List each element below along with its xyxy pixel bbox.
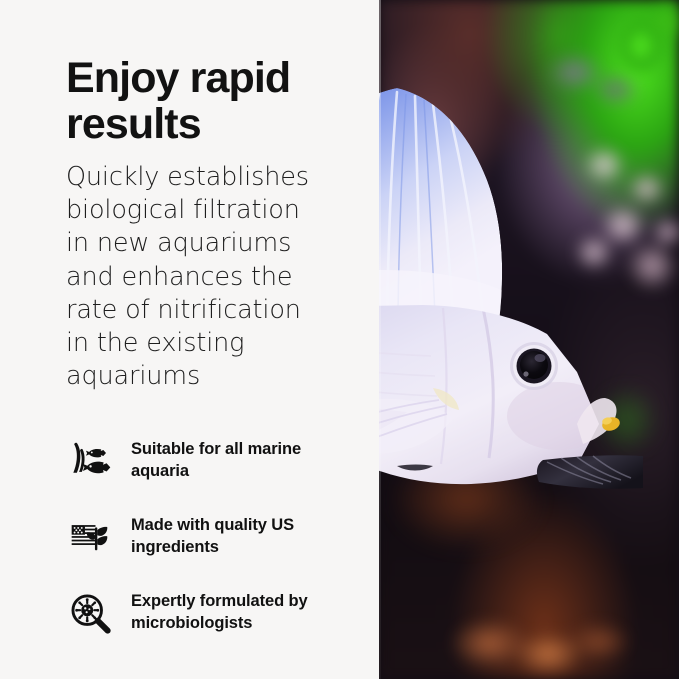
photo-stage	[379, 0, 679, 679]
list-item: Expertly formulated by microbiologists	[66, 589, 349, 637]
feature-label: Expertly formulated by microbiologists	[131, 591, 341, 635]
tang-fish	[379, 72, 643, 502]
product-feature-banner: Enjoy rapid results Quickly establishes …	[0, 0, 679, 679]
product-description: Quickly establishes biological filtratio…	[66, 161, 318, 393]
coral-rubble	[439, 596, 649, 679]
list-item: Made with quality US ingredients	[66, 513, 349, 561]
fish-seaweed-icon	[66, 437, 114, 485]
page-title: Enjoy rapid results	[66, 56, 336, 147]
list-item: Suitable for all marine aquaria	[66, 437, 349, 485]
feature-label: Made with quality US ingredients	[131, 515, 341, 559]
feature-list: Suitable for all marine aquaria	[66, 437, 349, 637]
magnifier-microbe-icon	[66, 589, 114, 637]
us-flag-plant-icon	[66, 513, 114, 561]
feature-label: Suitable for all marine aquaria	[131, 439, 341, 483]
fish-eye	[510, 342, 558, 390]
aquarium-fish-photo	[379, 0, 679, 679]
copy-panel: Enjoy rapid results Quickly establishes …	[0, 0, 379, 679]
